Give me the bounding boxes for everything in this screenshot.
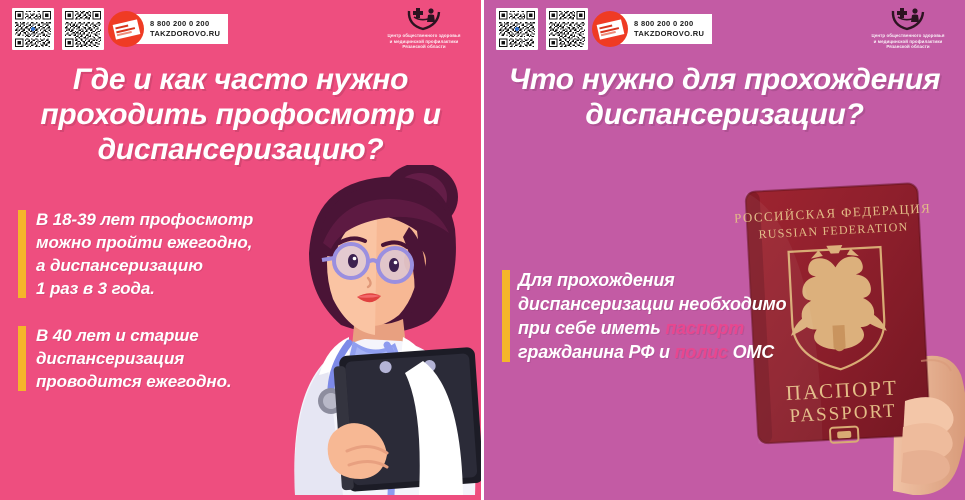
center-logo-line-3: Рязанской области xyxy=(861,44,955,50)
center-logo-line-1: Центр общественного здоровья xyxy=(377,33,471,39)
bullet-text-1: В 18-39 лет профосмотр можно пройти ежег… xyxy=(36,208,253,300)
center-logo-line-1: Центр общественного здоровья xyxy=(861,33,955,39)
highlight-polis: полис xyxy=(675,342,728,362)
center-logo-left: Центр общественного здоровья и медицинск… xyxy=(377,5,471,50)
takzdorovo-phone: 8 800 200 0 200 xyxy=(634,19,704,29)
left-panel-title: Где и как часто нужно проходить профосмо… xyxy=(0,62,481,167)
bullet-item-2: В 40 лет и старше диспансеризация провод… xyxy=(18,324,253,393)
left-bullet-list: В 18-39 лет профосмотр можно пройти ежег… xyxy=(18,208,253,417)
center-logo-right: Центр общественного здоровья и медицинск… xyxy=(861,5,955,50)
qr-code-1-icon[interactable] xyxy=(496,8,538,50)
left-header-strip: 8 800 200 0 200 TAKZDOROVO.RU Центр обще… xyxy=(0,0,481,58)
takzdorovo-site: TAKZDOROVO.RU xyxy=(150,29,220,39)
bullet-text-2: В 40 лет и старше диспансеризация провод… xyxy=(36,324,253,393)
left-poster-panel: 8 800 200 0 200 TAKZDOROVO.RU Центр обще… xyxy=(0,0,481,500)
qr-code-2-icon[interactable] xyxy=(62,8,104,50)
center-logo-line-3: Рязанской области xyxy=(377,44,471,50)
takzdorovo-logo[interactable]: 8 800 200 0 200 TAKZDOROVO.RU xyxy=(592,11,712,47)
takzdorovo-phone: 8 800 200 0 200 xyxy=(150,19,220,29)
takzdorovo-contact: 8 800 200 0 200 TAKZDOROVO.RU xyxy=(136,14,228,44)
right-body-text: Для прохождения диспансеризации необходи… xyxy=(518,268,802,364)
qr-code-2-icon[interactable] xyxy=(546,8,588,50)
accent-bar-3 xyxy=(502,270,510,362)
body-part-2: гражданина РФ и xyxy=(518,342,675,362)
highlight-passport: паспорт xyxy=(665,318,744,338)
right-panel-title: Что нужно для прохождения диспансеризаци… xyxy=(484,62,965,132)
health-center-emblem-icon xyxy=(890,5,926,31)
accent-bar-2 xyxy=(18,326,26,391)
accent-bar-1 xyxy=(18,210,26,298)
right-poster-panel: 8 800 200 0 200 TAKZDOROVO.RU Центр обще… xyxy=(484,0,965,500)
qr-code-1-icon[interactable] xyxy=(12,8,54,50)
doctor-illustration xyxy=(237,165,481,500)
takzdorovo-contact: 8 800 200 0 200 TAKZDOROVO.RU xyxy=(620,14,712,44)
takzdorovo-badge-icon xyxy=(592,11,628,47)
right-header-strip: 8 800 200 0 200 TAKZDOROVO.RU Центр обще… xyxy=(484,0,965,58)
takzdorovo-site: TAKZDOROVO.RU xyxy=(634,29,704,39)
body-part-3: ОМС xyxy=(728,342,774,362)
qr-code-group xyxy=(12,8,104,50)
takzdorovo-badge-icon xyxy=(108,11,144,47)
takzdorovo-logo[interactable]: 8 800 200 0 200 TAKZDOROVO.RU xyxy=(108,11,228,47)
right-body-block: Для прохождения диспансеризации необходи… xyxy=(502,268,802,364)
body-part-1: Для прохождения диспансеризации необходи… xyxy=(518,270,786,338)
qr-code-group-right xyxy=(496,8,588,50)
bullet-item-1: В 18-39 лет профосмотр можно пройти ежег… xyxy=(18,208,253,300)
poster-board: 8 800 200 0 200 TAKZDOROVO.RU Центр обще… xyxy=(0,0,965,500)
health-center-emblem-icon xyxy=(406,5,442,31)
